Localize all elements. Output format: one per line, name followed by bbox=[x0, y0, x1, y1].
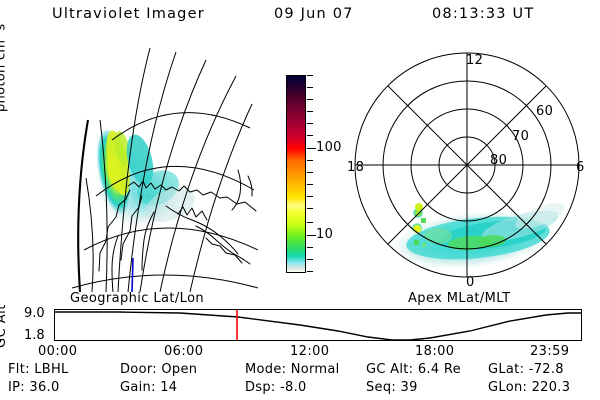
status-label: GC Alt: bbox=[366, 362, 418, 377]
colorbar-tick bbox=[307, 208, 313, 209]
colorbar-tick-label: 100 bbox=[316, 140, 342, 155]
colorbar-unit-prefix: photon cm bbox=[0, 40, 8, 112]
status-value: 6.4 Re bbox=[418, 362, 461, 377]
right-panel-caption: Apex MLat/MLT bbox=[408, 291, 510, 306]
orbit-x-tick-label: 18:00 bbox=[415, 344, 454, 359]
colorbar-unit-exp1: -2 bbox=[0, 31, 2, 40]
colorbar-tick bbox=[307, 271, 313, 272]
colorbar-tick bbox=[307, 111, 313, 112]
left-geographic-plot bbox=[72, 48, 258, 292]
status-label: Seq: bbox=[366, 380, 401, 395]
status-field-gc-alt: GC Alt: 6.4 Re bbox=[366, 362, 461, 377]
colorbar-tick bbox=[307, 196, 313, 197]
colorbar-box bbox=[286, 75, 306, 273]
colorbar-axis-label: photon cm-2s-1 bbox=[0, 0, 8, 112]
orbit-strip-frame bbox=[54, 309, 582, 341]
mlt-label-18: 18 bbox=[347, 160, 364, 175]
orbit-x-tick-label: 12:00 bbox=[290, 344, 329, 359]
left-aurora-emission bbox=[81, 125, 200, 242]
colorbar-unit-exp2: -1 bbox=[0, 15, 2, 24]
mlat-label-80: 80 bbox=[490, 153, 507, 168]
colorbar-tick bbox=[307, 99, 313, 100]
orbit-x-tick-label: 00:00 bbox=[38, 344, 77, 359]
colorbar-tick-label: 10 bbox=[316, 227, 333, 242]
status-label: Mode: bbox=[245, 362, 291, 377]
status-value: Open bbox=[161, 362, 197, 377]
mlt-label-6: 6 bbox=[576, 160, 585, 175]
mlt-label-0: 0 bbox=[466, 275, 475, 290]
status-value: -72.8 bbox=[529, 362, 564, 377]
colorbar-tick bbox=[307, 259, 313, 260]
colorbar-tick bbox=[307, 160, 313, 161]
orbit-y-tick-max: 9.0 bbox=[24, 306, 45, 321]
right-polar-dial bbox=[355, 53, 579, 279]
status-label: Dsp: bbox=[245, 380, 280, 395]
orbit-y-axis-title: GC Alt bbox=[0, 268, 9, 348]
status-field-gain: Gain: 14 bbox=[120, 380, 177, 395]
colorbar-major-tick bbox=[307, 148, 316, 149]
colorbar-tick bbox=[307, 184, 313, 185]
status-field-dsp: Dsp: -8.0 bbox=[245, 380, 307, 395]
colorbar-tick bbox=[307, 247, 313, 248]
status-label: GLon: bbox=[488, 380, 532, 395]
right-mlt-spokes bbox=[355, 53, 579, 277]
left-panel-caption: Geographic Lat/Lon bbox=[70, 291, 204, 306]
status-label: Door: bbox=[120, 362, 161, 377]
status-label: Gain: bbox=[120, 380, 160, 395]
status-value: 14 bbox=[160, 380, 177, 395]
status-field-glat: GLat: -72.8 bbox=[488, 362, 564, 377]
colorbar-tick bbox=[307, 87, 313, 88]
status-value: Normal bbox=[291, 362, 340, 377]
colorbar-tick bbox=[307, 75, 313, 76]
colorbar-tick bbox=[307, 135, 313, 136]
uvi-image-panel: Ultraviolet Imager 09 Jun 07 08:13:33 UT bbox=[0, 0, 600, 400]
status-value: -8.0 bbox=[280, 380, 307, 395]
status-footer: Flt: LBHLDoor: OpenMode: NormalGC Alt: 6… bbox=[0, 362, 600, 400]
status-label: Flt: bbox=[8, 362, 34, 377]
status-value: LBHL bbox=[34, 362, 68, 377]
terminator-line bbox=[132, 258, 133, 292]
status-label: IP: bbox=[8, 380, 29, 395]
colorbar-major-tick bbox=[307, 235, 316, 236]
status-value: 39 bbox=[401, 380, 418, 395]
status-field-door: Door: Open bbox=[120, 362, 197, 377]
orbit-y-tick-min: 1.8 bbox=[24, 328, 45, 343]
status-value: 36.0 bbox=[29, 380, 59, 395]
mlat-label-70: 70 bbox=[512, 129, 529, 144]
orbit-x-tick-label: 06:00 bbox=[164, 344, 203, 359]
status-field-ip: IP: 36.0 bbox=[8, 380, 60, 395]
status-field-flt: Flt: LBHL bbox=[8, 362, 69, 377]
mlt-label-12: 12 bbox=[466, 53, 483, 68]
orbit-x-tick-label: 23:59 bbox=[530, 344, 569, 359]
colorbar-unit-mid: s bbox=[0, 24, 8, 31]
status-field-mode: Mode: Normal bbox=[245, 362, 340, 377]
terminator-arc bbox=[78, 120, 88, 292]
colorbar-tick bbox=[307, 172, 313, 173]
status-field-glon: GLon: 220.3 bbox=[488, 380, 570, 395]
colorbar-gradient bbox=[287, 76, 305, 272]
colorbar-tick bbox=[307, 123, 313, 124]
status-label: GLat: bbox=[488, 362, 529, 377]
colorbar-tick bbox=[307, 222, 313, 223]
mlat-label-60: 60 bbox=[536, 104, 553, 119]
status-value: 220.3 bbox=[532, 380, 571, 395]
status-field-seq: Seq: 39 bbox=[366, 380, 418, 395]
